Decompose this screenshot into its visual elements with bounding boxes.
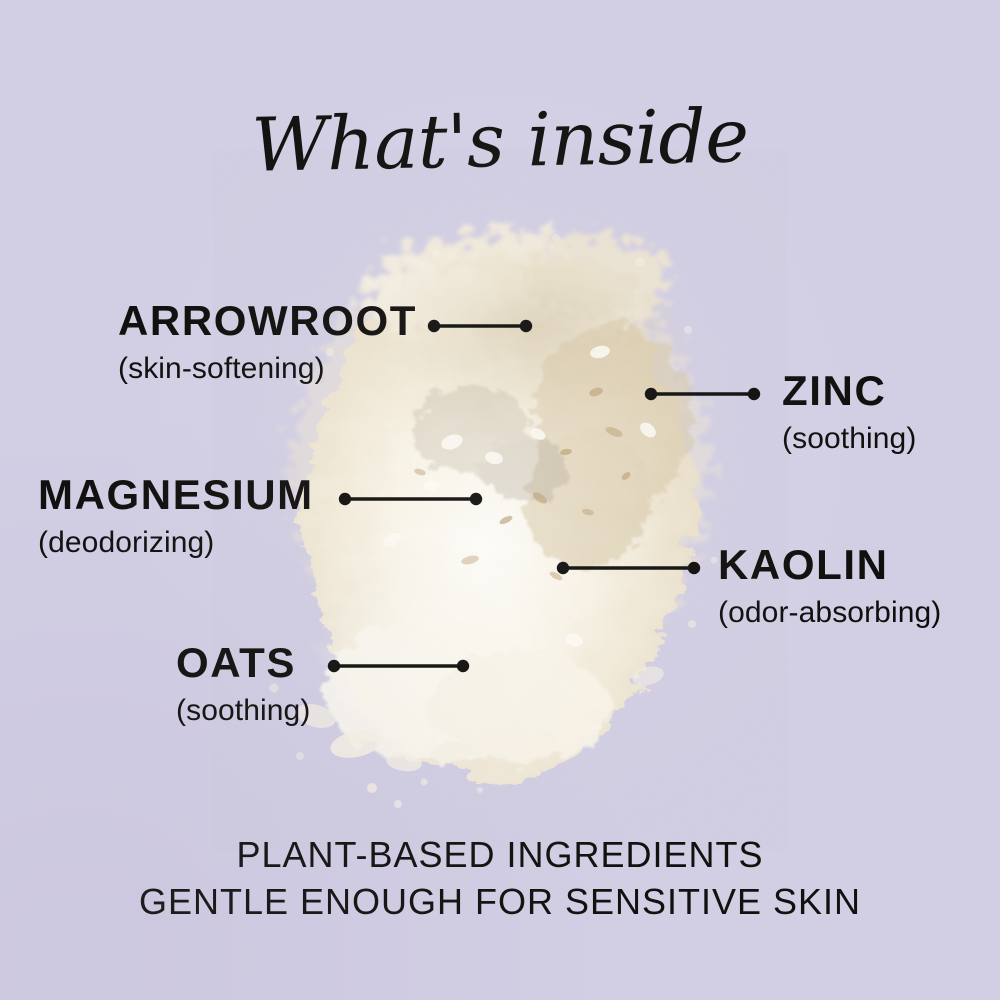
callout-arrowroot-note: (skin-softening) [118, 354, 417, 384]
callout-oats-note: (soothing) [176, 696, 310, 726]
callout-arrowroot: ARROWROOT (skin-softening) [118, 300, 417, 384]
callout-kaolin-note: (odor-absorbing) [718, 598, 941, 628]
callout-kaolin: KAOLIN (odor-absorbing) [718, 544, 941, 628]
callout-zinc: ZINC (soothing) [782, 370, 916, 454]
tagline: PLANT-BASED INGREDIENTS GENTLE ENOUGH FO… [0, 832, 1000, 926]
callout-oats-name: OATS [176, 642, 310, 684]
callout-kaolin-name: KAOLIN [718, 544, 941, 586]
callout-magnesium-note: (deodorizing) [38, 528, 314, 558]
tagline-line-1: PLANT-BASED INGREDIENTS [0, 832, 1000, 879]
callout-magnesium-name: MAGNESIUM [38, 474, 314, 516]
tagline-line-2: GENTLE ENOUGH FOR SENSITIVE SKIN [0, 879, 1000, 926]
callout-zinc-name: ZINC [782, 370, 916, 412]
callout-arrowroot-name: ARROWROOT [118, 300, 417, 342]
callout-magnesium: MAGNESIUM (deodorizing) [38, 474, 314, 558]
ingredient-infographic-poster: What's inside ARROWROOT (skin-softening)… [0, 0, 1000, 1000]
callout-zinc-note: (soothing) [782, 424, 916, 454]
callout-oats: OATS (soothing) [176, 642, 310, 726]
